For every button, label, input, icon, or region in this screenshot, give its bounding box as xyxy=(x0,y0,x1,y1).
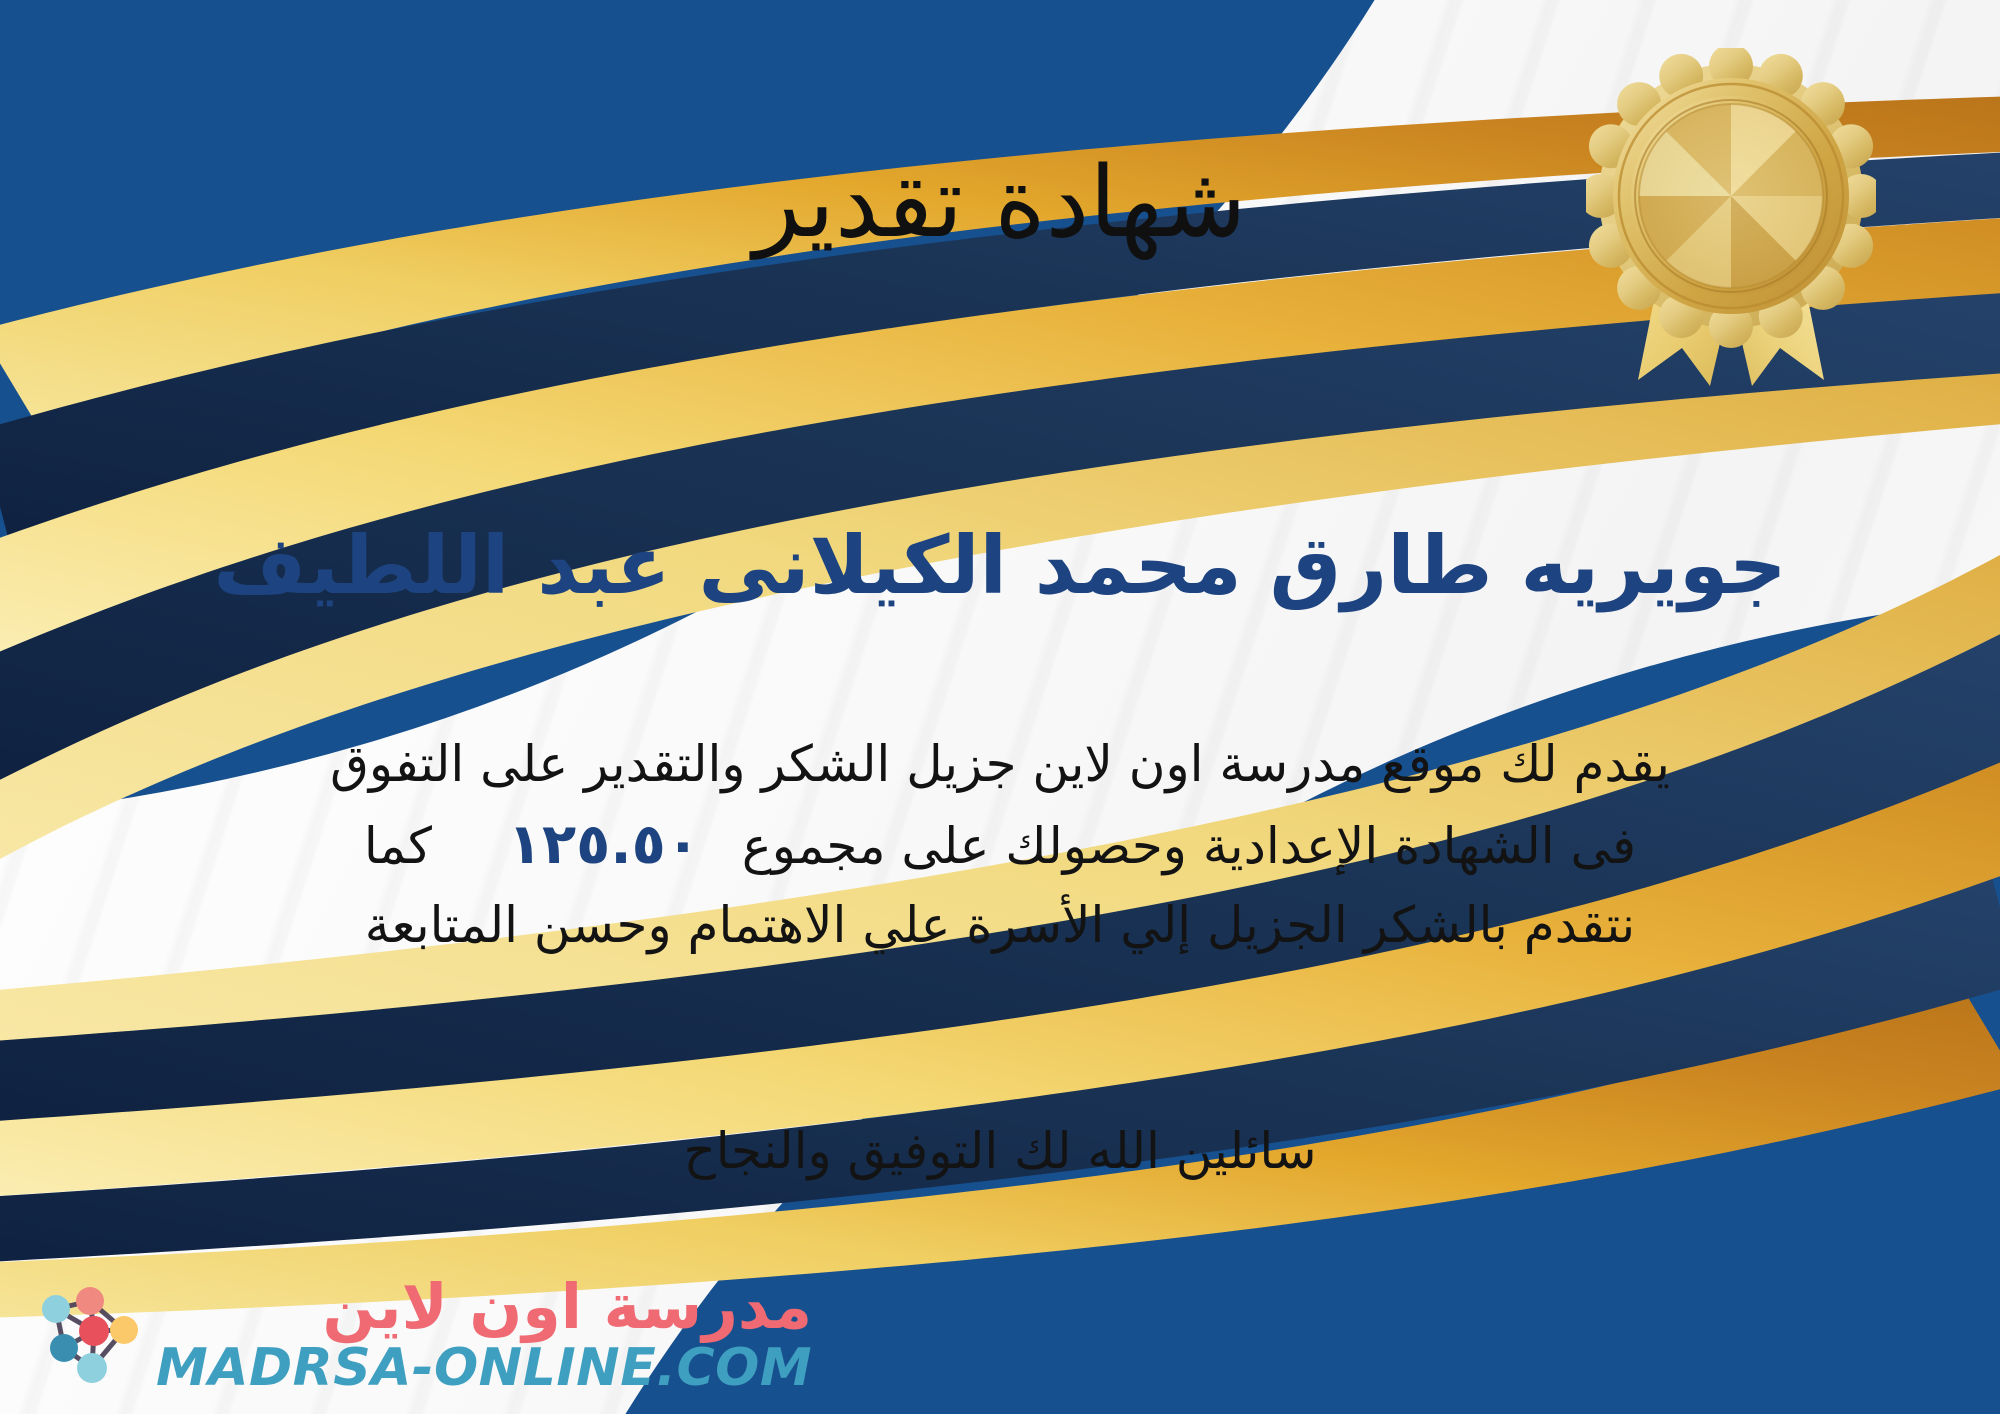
body-line-3: نتقدم بالشكر الجزيل إلي الأسرة علي الاهت… xyxy=(40,887,1960,963)
site-logo[interactable]: مدرسة اون لاين MADRSA-ONLINE.COM xyxy=(28,1276,812,1394)
page-title: شهادة تقدير xyxy=(0,150,2000,258)
closing-wish: سائلين الله لك التوفيق والنجاح xyxy=(0,1122,2000,1180)
body-line-2-suffix: كما xyxy=(364,817,466,875)
network-nodes-icon xyxy=(28,1276,146,1394)
body-line-2: فى الشهادة الإعدادية وحصولك على مجموع ١٢… xyxy=(40,802,1960,887)
grade-total-value: ١٢٥.٥٠ xyxy=(482,812,726,877)
certificate-body: يقدم لك موقع مدرسة اون لاين جزيل الشكر و… xyxy=(40,726,1960,963)
body-line-1: يقدم لك موقع مدرسة اون لاين جزيل الشكر و… xyxy=(40,726,1960,802)
logo-text-block: مدرسة اون لاين MADRSA-ONLINE.COM xyxy=(156,1276,812,1394)
certificate-content: شهادة تقدير جويريه طارق محمد الكيلانى عب… xyxy=(0,0,2000,1414)
logo-website-url[interactable]: MADRSA-ONLINE.COM xyxy=(156,1342,812,1394)
certificate-canvas: شهادة تقدير جويريه طارق محمد الكيلانى عب… xyxy=(0,0,2000,1414)
body-line-2-prefix: فى الشهادة الإعدادية وحصولك على مجموع xyxy=(742,817,1636,875)
logo-arabic-name: مدرسة اون لاين xyxy=(323,1276,813,1338)
recipient-name: جويريه طارق محمد الكيلانى عبد اللطيف xyxy=(0,520,2000,612)
